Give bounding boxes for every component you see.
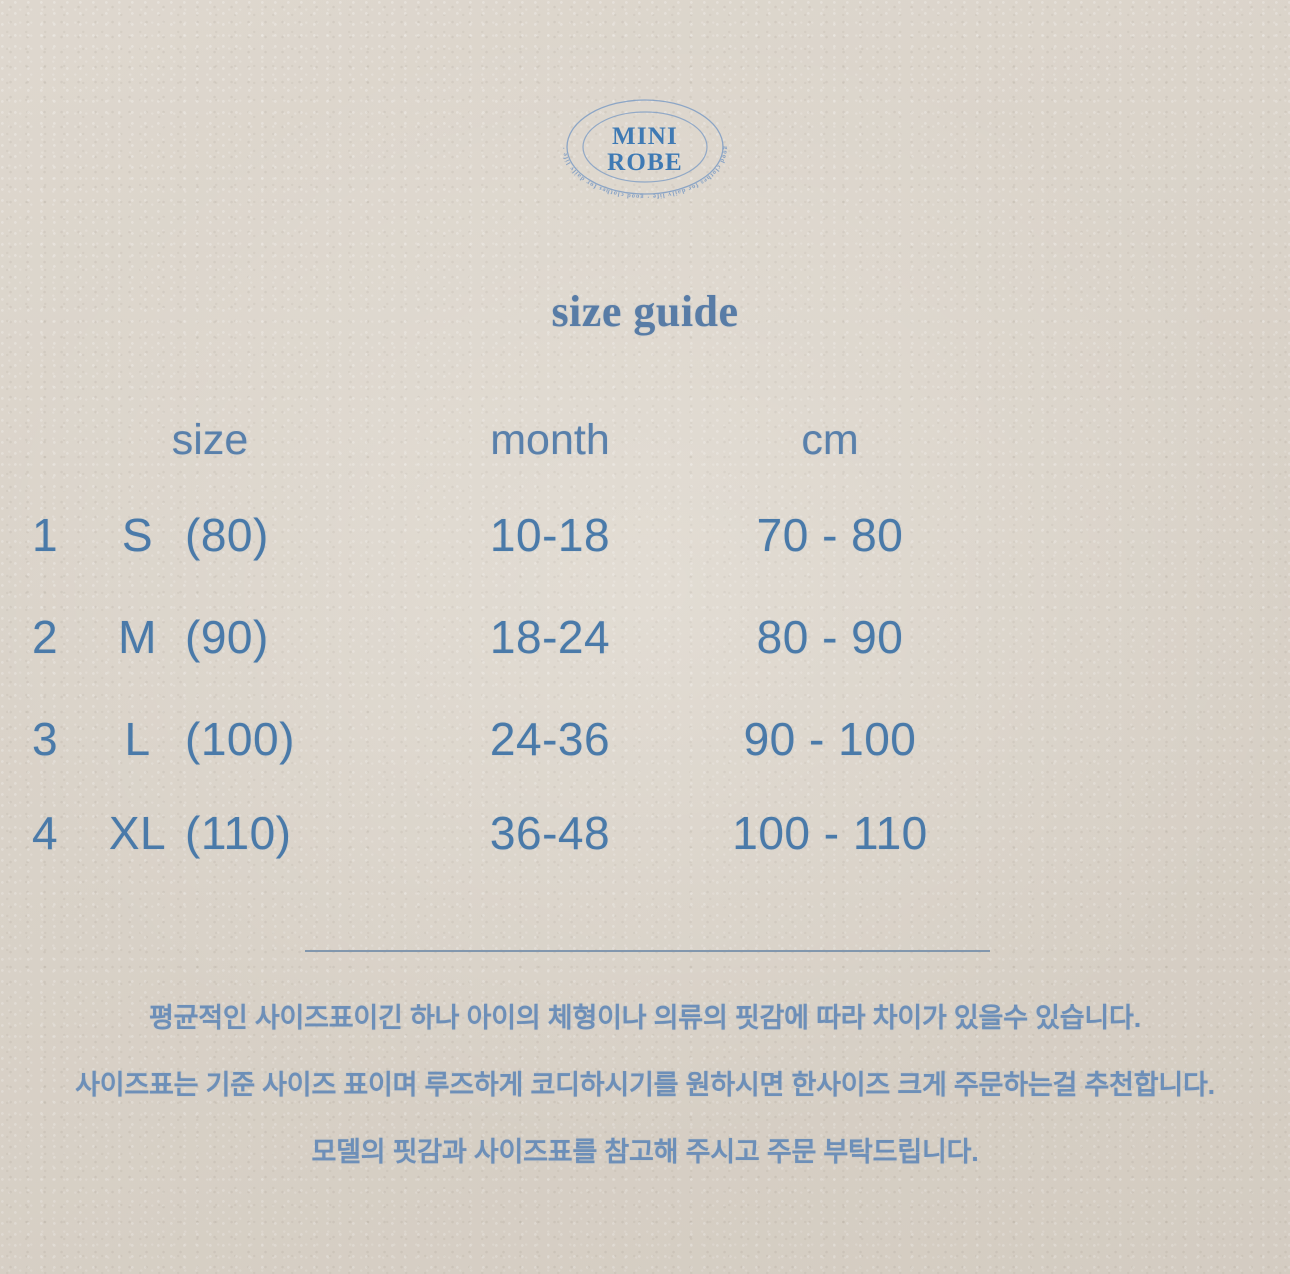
table-row: 2 M (90) 18-24 80 - 90 [0, 610, 1290, 680]
section-divider [305, 950, 990, 952]
table-row: 4 XL (110) 36-48 100 - 110 [0, 806, 1290, 876]
note-line: 모델의 핏감과 사이즈표를 참고해 주시고 주문 부탁드립니다. [0, 1130, 1290, 1169]
size-guide-page: good clothes for daily life · good cloth… [0, 0, 1290, 1274]
page-title: size guide [0, 286, 1290, 337]
row-size-group: 1 S (80) [0, 508, 420, 562]
row-size-paren: (100) [185, 712, 420, 766]
brand-logo: good clothes for daily life · good cloth… [0, 88, 1290, 206]
logo-line-1: MINI [612, 123, 678, 150]
row-size-letter: S [90, 508, 185, 562]
row-size-letter: XL [90, 806, 185, 860]
row-size-letter: L [90, 712, 185, 766]
row-size-group: 3 L (100) [0, 712, 420, 766]
mini-robe-stamp-icon: good clothes for daily life · good cloth… [555, 88, 735, 206]
header-cell-size: size [0, 416, 420, 465]
row-size-number: 2 [0, 610, 90, 664]
note-line: 평균적인 사이즈표이긴 하나 아이의 체형이나 의류의 핏감에 따라 차이가 있… [0, 996, 1290, 1035]
header-cell-cm: cm [680, 416, 980, 465]
row-size-letter: M [90, 610, 185, 664]
header-cell-month: month [420, 416, 680, 465]
row-month: 24-36 [420, 712, 680, 766]
row-cm: 100 - 110 [680, 806, 980, 860]
row-size-group: 4 XL (110) [0, 806, 420, 860]
row-month: 10-18 [420, 508, 680, 562]
row-cm: 90 - 100 [680, 712, 980, 766]
table-header-row: size month cm [0, 416, 1290, 482]
table-row: 1 S (80) 10-18 70 - 80 [0, 508, 1290, 578]
row-month: 36-48 [420, 806, 680, 860]
row-month: 18-24 [420, 610, 680, 664]
row-size-number: 1 [0, 508, 90, 562]
note-line: 사이즈표는 기준 사이즈 표이며 루즈하게 코디하시기를 원하시면 한사이즈 크… [0, 1063, 1290, 1102]
size-guide-table: size month cm 1 S (80) 10-18 70 - 80 2 M… [0, 416, 1290, 876]
header-label-size: size [0, 416, 420, 465]
table-row: 3 L (100) 24-36 90 - 100 [0, 712, 1290, 782]
row-size-paren: (110) [185, 806, 420, 860]
row-cm: 70 - 80 [680, 508, 980, 562]
row-size-paren: (90) [185, 610, 420, 664]
row-size-number: 3 [0, 712, 90, 766]
row-cm: 80 - 90 [680, 610, 980, 664]
logo-line-2: ROBE [607, 149, 683, 176]
notes-block: 평균적인 사이즈표이긴 하나 아이의 체형이나 의류의 핏감에 따라 차이가 있… [0, 996, 1290, 1169]
row-size-number: 4 [0, 806, 90, 860]
row-size-paren: (80) [185, 508, 420, 562]
row-size-group: 2 M (90) [0, 610, 420, 664]
